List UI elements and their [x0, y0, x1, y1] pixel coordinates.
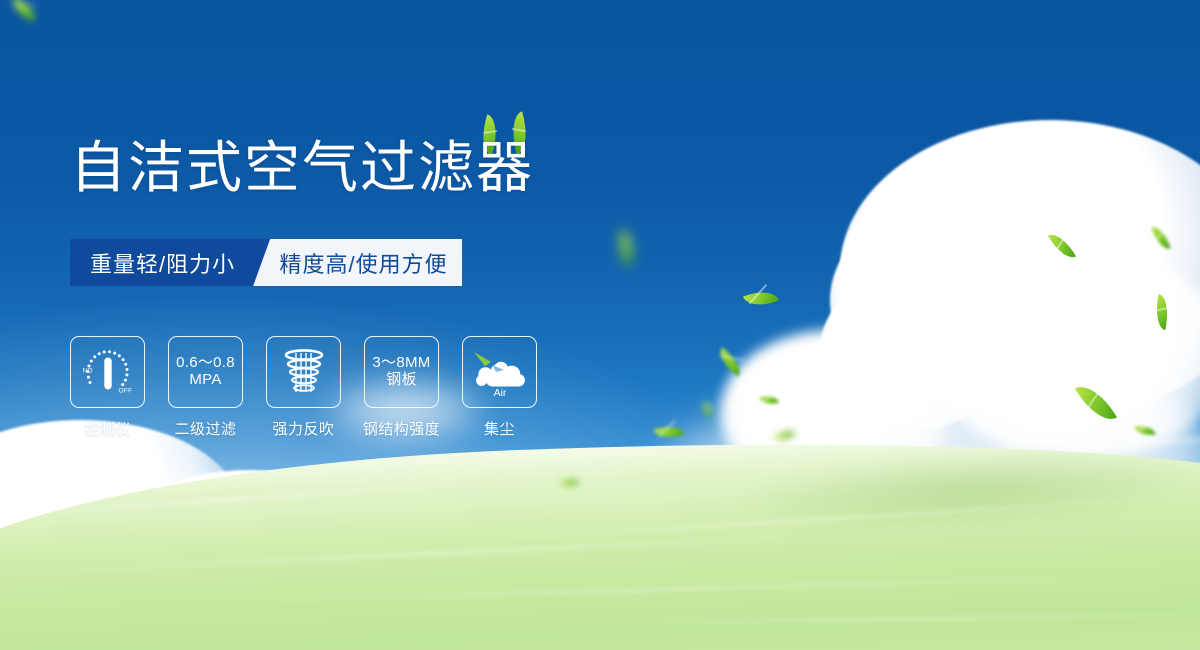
feature-list: NO OFF 控制仪 0.6～0.8 MPA 二级过滤 — [70, 336, 537, 439]
product-banner: 自洁式空气过滤器 重量轻/阻力小 精度高/使用方便 — [0, 0, 1200, 650]
subtitle-bar: 重量轻/阻力小 精度高/使用方便 — [70, 239, 462, 286]
feature-label: 强力反吹 — [272, 418, 334, 439]
pressure-text-icon: 0.6～0.8 MPA — [176, 355, 235, 389]
feature-text-line2: 钢板 — [372, 372, 430, 389]
subtitle-right-tag: 精度高/使用方便 — [253, 239, 462, 286]
air-cloud-label: Air — [493, 387, 506, 398]
banner-content: 自洁式空气过滤器 重量轻/阻力小 精度高/使用方便 — [0, 0, 1200, 650]
feature-item-blowback[interactable]: 强力反吹 — [266, 336, 341, 439]
feature-icon-box — [266, 336, 341, 408]
steel-plate-text-icon: 3～8MM 钢板 — [372, 355, 430, 389]
feature-item-steel[interactable]: 3～8MM 钢板 钢结构强度 — [364, 336, 439, 439]
feature-item-pressure[interactable]: 0.6～0.8 MPA 二级过滤 — [168, 336, 243, 439]
feature-text-line1: 0.6～0.8 — [176, 354, 235, 371]
feature-text-line2: MPA — [176, 372, 235, 389]
filter-cartridge-icon — [276, 345, 332, 399]
feature-icon-box: Air — [462, 336, 537, 408]
feature-item-control[interactable]: NO OFF 控制仪 — [70, 336, 145, 439]
control-dial-icon: NO OFF — [78, 344, 138, 400]
feature-label: 二级过滤 — [174, 418, 236, 439]
feature-icon-box: 3～8MM 钢板 — [364, 336, 439, 408]
feature-item-dust[interactable]: Air 集尘 — [462, 336, 537, 439]
feature-icon-box: NO OFF — [70, 336, 145, 408]
svg-text:NO: NO — [82, 368, 92, 375]
feature-label: 钢结构强度 — [363, 418, 441, 439]
subtitle-left-tag: 重量轻/阻力小 — [70, 239, 253, 286]
feature-text-line1: 3～8MM — [372, 354, 430, 371]
feature-label: 集尘 — [484, 418, 515, 439]
svg-text:OFF: OFF — [118, 388, 132, 395]
feature-icon-box: 0.6～0.8 MPA — [168, 336, 243, 408]
page-title: 自洁式空气过滤器 — [70, 140, 534, 196]
feature-label: 控制仪 — [84, 418, 131, 439]
air-cloud-icon: Air — [471, 346, 529, 398]
